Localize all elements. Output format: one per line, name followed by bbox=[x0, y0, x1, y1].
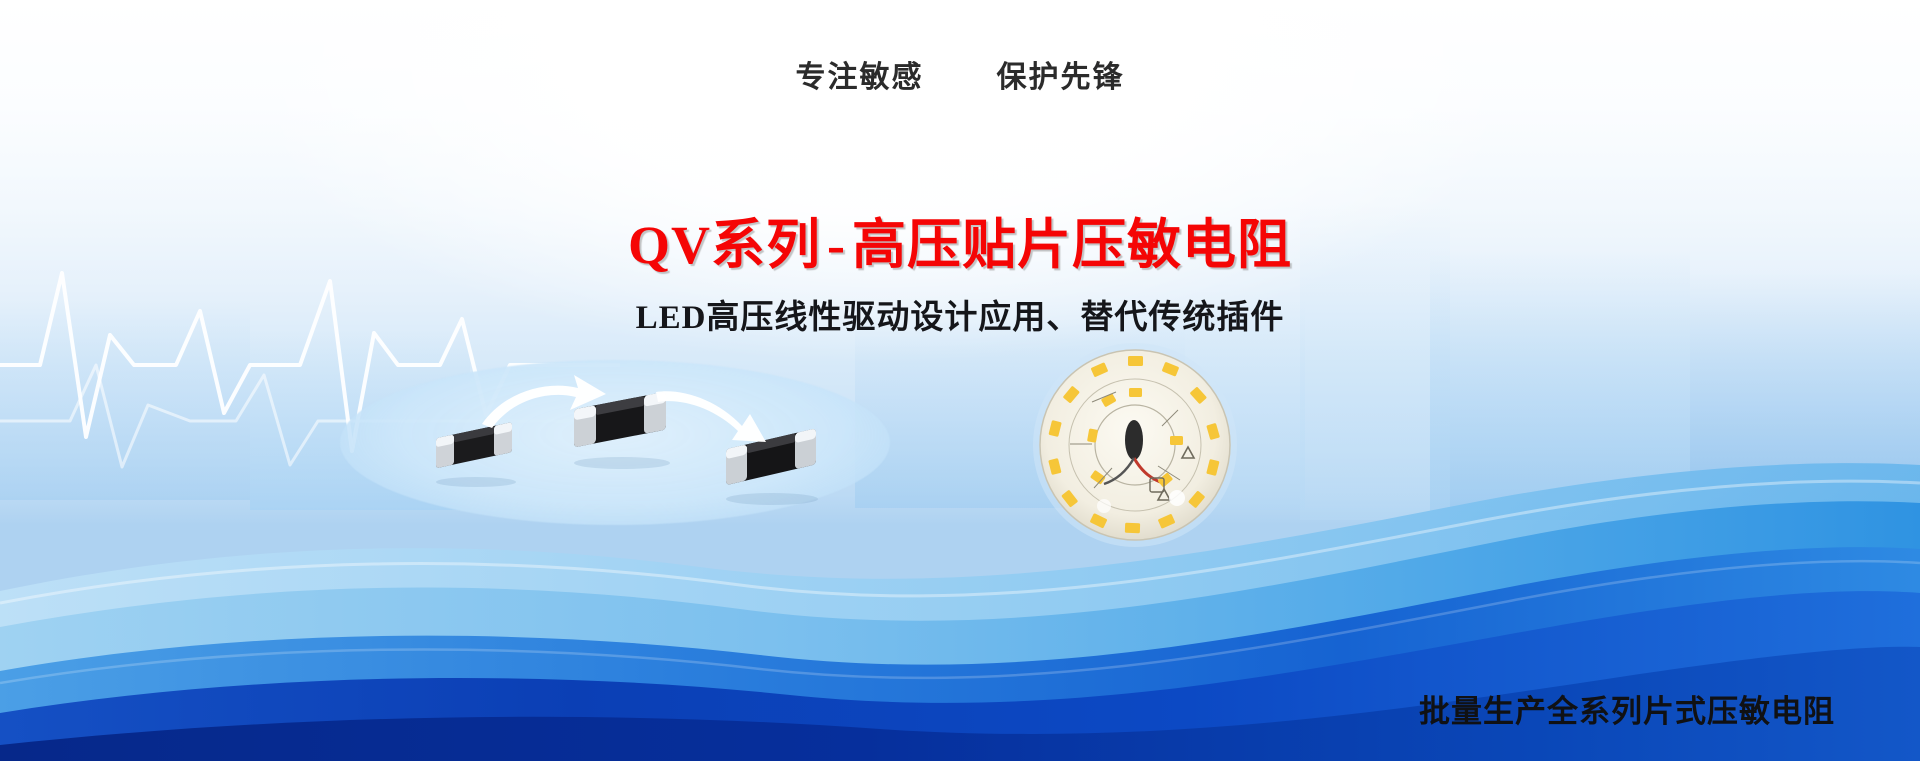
title-prefix: QV系列 bbox=[628, 215, 821, 275]
page-title: QV系列-高压贴片压敏电阻 bbox=[0, 200, 1920, 279]
promo-banner: 专注敏感 保护先锋 QV系列-高压贴片压敏电阻 LED高压线性驱动设计应用、替代… bbox=[0, 0, 1920, 761]
banner-footnote: 批量生产全系列片式压敏电阻 bbox=[1419, 686, 1835, 731]
title-main: 高压贴片压敏电阻 bbox=[852, 215, 1292, 275]
page-subtitle: LED高压线性驱动设计应用、替代传统插件 bbox=[0, 290, 1920, 338]
banner-tagline: 专注敏感 保护先锋 bbox=[0, 52, 1920, 96]
title-dash: - bbox=[821, 215, 852, 275]
tagline-right: 保护先锋 bbox=[997, 61, 1125, 94]
tagline-left: 专注敏感 bbox=[796, 61, 924, 94]
